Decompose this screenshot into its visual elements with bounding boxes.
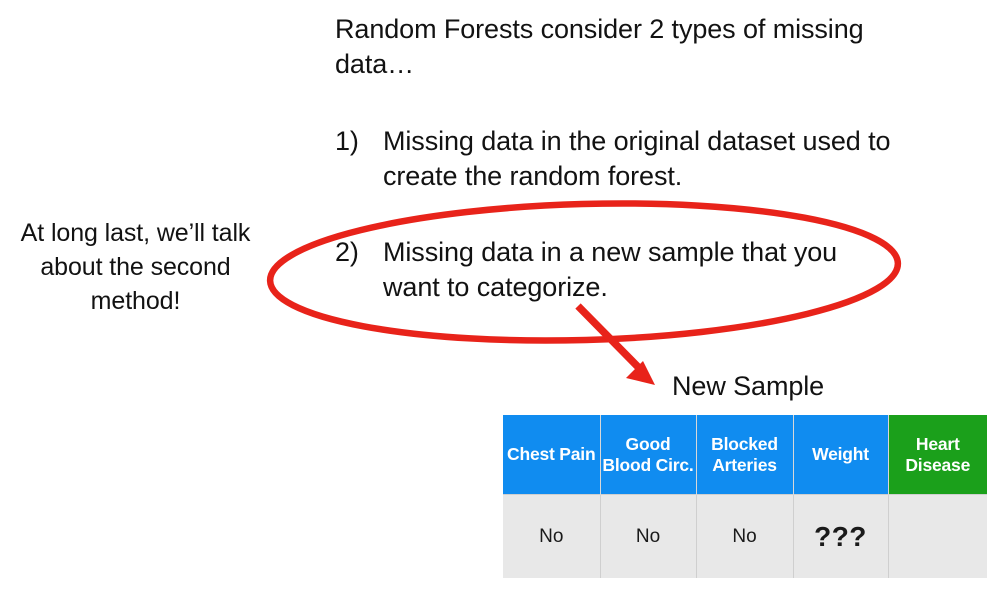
table-header-chest-pain: Chest Pain: [503, 415, 600, 495]
table-header-good-blood-circ: Good Blood Circ.: [600, 415, 696, 495]
page-title: Random Forests consider 2 types of missi…: [335, 12, 895, 82]
list-item-number: 1): [335, 124, 383, 194]
red-arrow-shaft: [578, 306, 643, 372]
list-item: 1) Missing data in the original dataset …: [335, 124, 895, 194]
new-sample-table: Chest Pain Good Blood Circ. Blocked Arte…: [503, 415, 987, 578]
table-header-row: Chest Pain Good Blood Circ. Blocked Arte…: [503, 415, 987, 495]
slide-canvas: Random Forests consider 2 types of missi…: [0, 0, 1005, 592]
table-header-blocked-arteries: Blocked Arteries: [696, 415, 793, 495]
cell-heart-disease: [888, 495, 987, 579]
new-sample-label: New Sample: [672, 370, 824, 403]
list-item-label: Missing data in the original dataset use…: [383, 124, 895, 194]
cell-blocked-arteries: No: [696, 495, 793, 579]
list-item: 2) Missing data in a new sample that you…: [335, 235, 895, 305]
red-arrow-head: [626, 361, 655, 385]
list-item-number: 2): [335, 235, 383, 305]
list-item-label: Missing data in a new sample that you wa…: [383, 235, 895, 305]
cell-good-blood-circ: No: [600, 495, 696, 579]
table-header-heart-disease: Heart Disease: [888, 415, 987, 495]
left-callout-text: At long last, we’ll talk about the secon…: [8, 216, 263, 318]
table-header-weight: Weight: [793, 415, 888, 495]
cell-chest-pain: No: [503, 495, 600, 579]
cell-weight-unknown: ???: [793, 495, 888, 579]
table-row: No No No ???: [503, 495, 987, 579]
